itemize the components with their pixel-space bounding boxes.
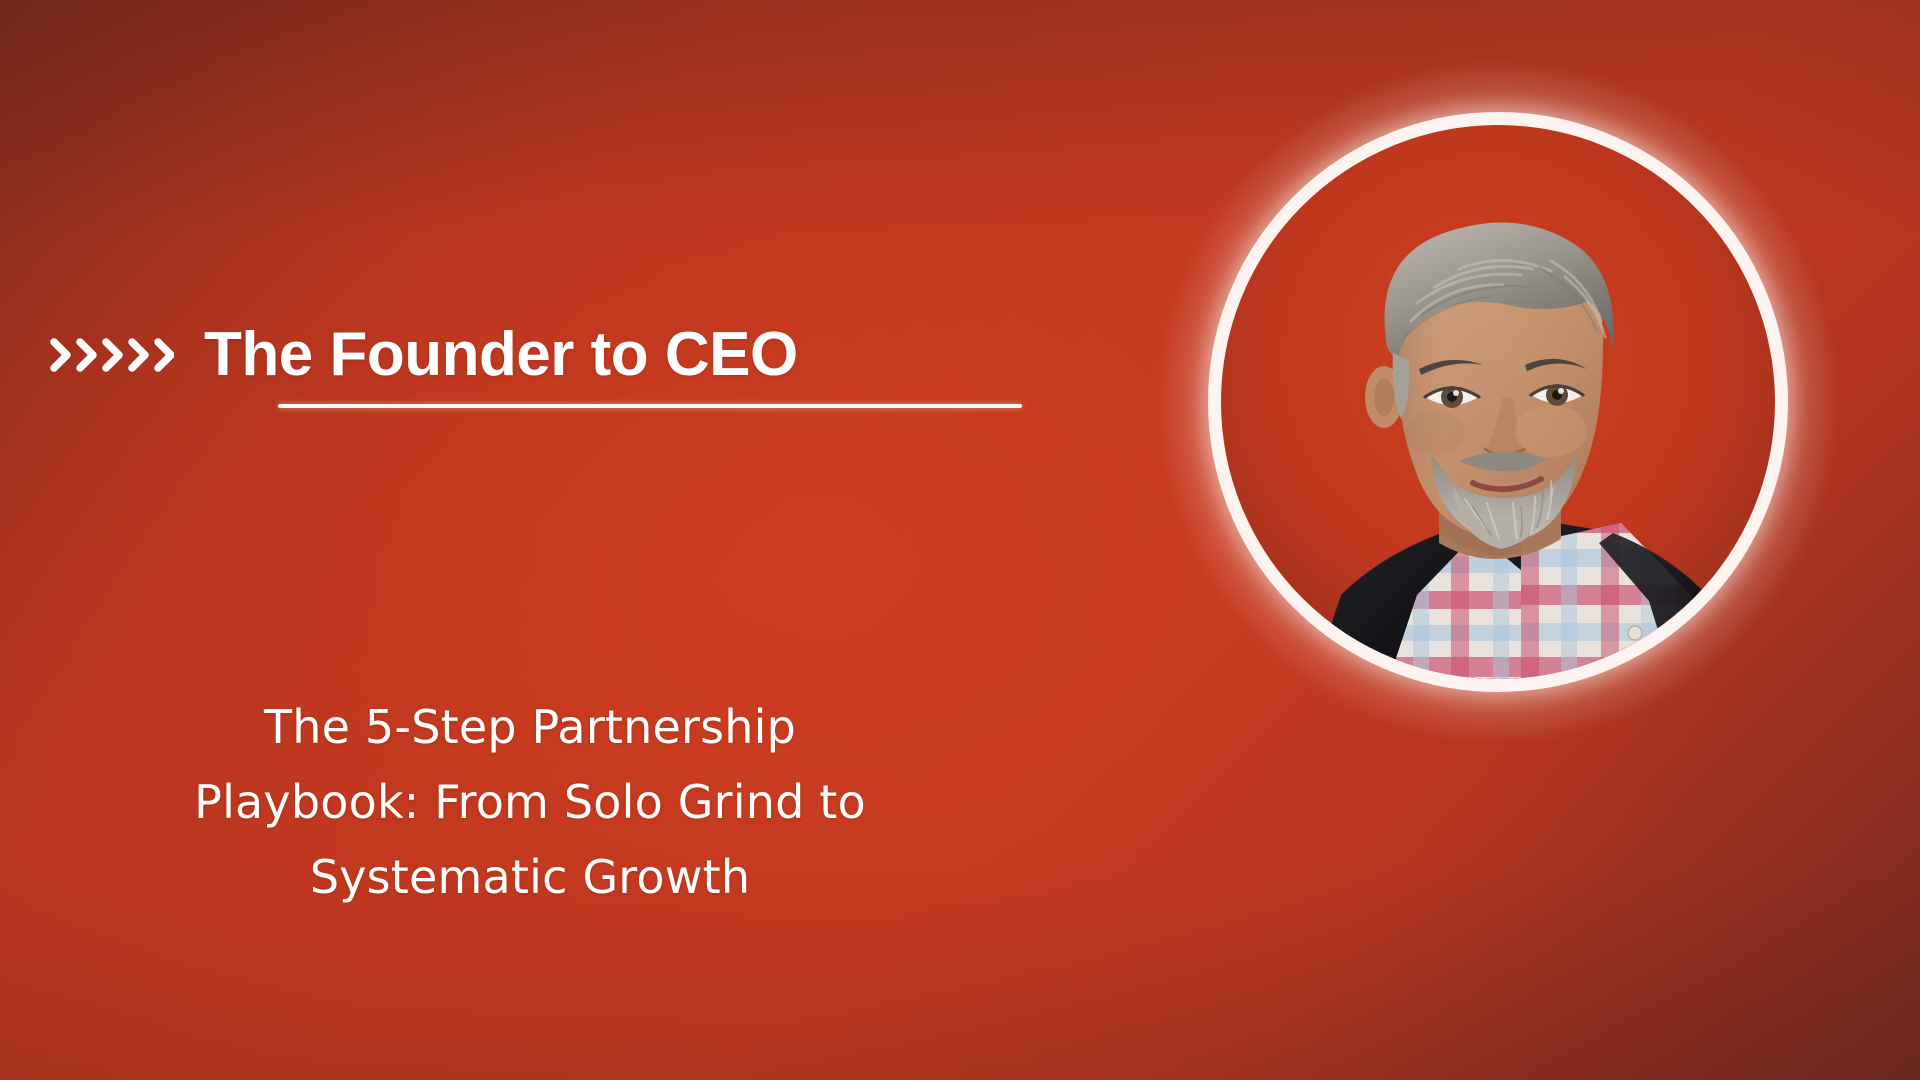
title-underline-divider <box>278 404 1022 408</box>
avatar <box>1208 112 1788 692</box>
text-column: The Founder to CEO The 5-Step Partnershi… <box>0 0 1060 1080</box>
subtitle-line-3: Systematic Growth <box>60 840 1000 915</box>
subtitle-line-2: Playbook: From Solo Grind to <box>60 765 1000 840</box>
page-title: The Founder to CEO <box>204 324 798 386</box>
slide-canvas: The Founder to CEO The 5-Step Partnershi… <box>0 0 1920 1080</box>
subtitle-line-1: The 5-Step Partnership <box>60 690 1000 765</box>
avatar-photo <box>1221 125 1775 679</box>
subtitle: The 5-Step Partnership Playbook: From So… <box>60 690 1000 915</box>
double-chevron-right-icon <box>48 334 174 376</box>
